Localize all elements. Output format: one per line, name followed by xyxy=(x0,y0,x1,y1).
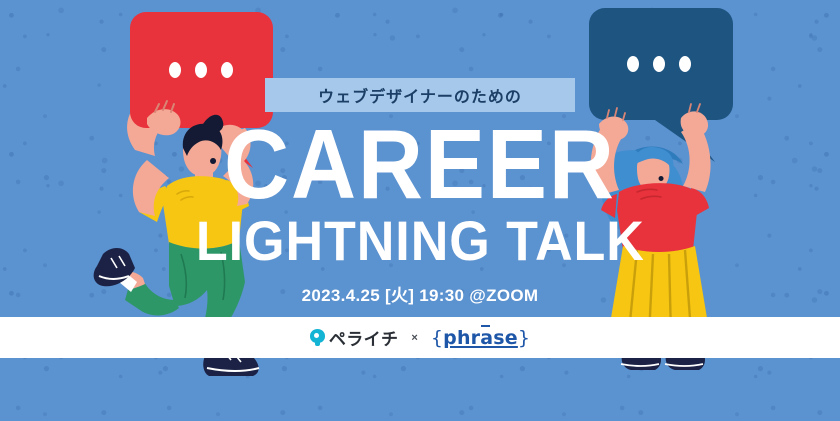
headline-block: ウェブデザイナーのための CAREER LIGHTNING TALK 2023.… xyxy=(0,0,840,317)
partner-separator: × xyxy=(411,332,417,344)
peraichi-logo[interactable]: ペライチ xyxy=(310,325,399,350)
peraichi-pin-icon xyxy=(310,329,325,346)
event-date-line: 2023.4.25 [火] 19:30 @ZOOM xyxy=(302,281,539,306)
title-main: CAREER xyxy=(224,121,616,207)
subtitle-badge: ウェブデザイナーのための xyxy=(265,78,575,112)
phrase-brace-open: { xyxy=(431,327,443,349)
partner-logos-row: ペライチ × { phrase } xyxy=(0,317,840,358)
subtitle-text: ウェブデザイナーのための xyxy=(318,83,522,107)
event-banner: ウェブデザイナーのための CAREER LIGHTNING TALK 2023.… xyxy=(0,0,840,421)
phrase-logo-text: phrase xyxy=(443,327,518,349)
title-sub: LIGHTNING TALK xyxy=(196,213,645,269)
peraichi-logo-text: ペライチ xyxy=(329,325,399,350)
phrase-logo[interactable]: { phrase } xyxy=(431,327,530,349)
phrase-brace-close: } xyxy=(518,327,530,349)
phrase-macron xyxy=(481,325,490,327)
